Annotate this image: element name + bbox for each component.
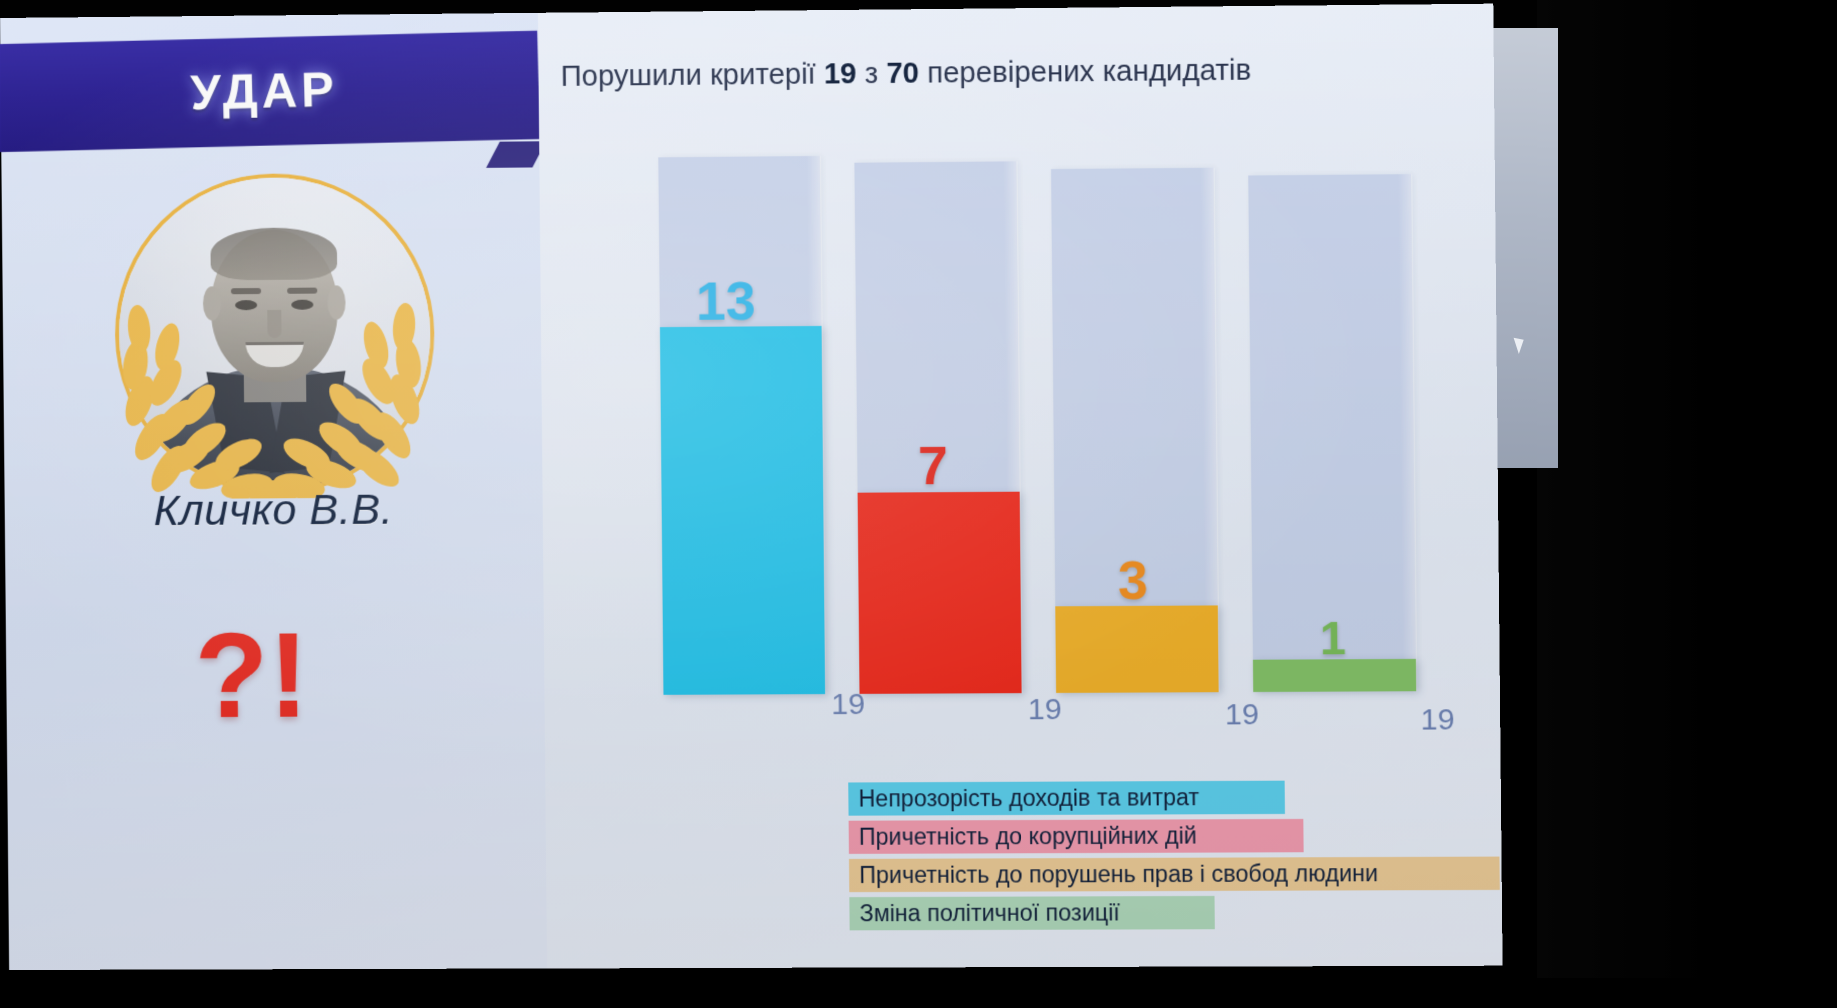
chart-title: Порушили критерії 19 з 70 перевірених ка…	[561, 52, 1479, 94]
candidate-portrait	[79, 166, 464, 499]
bar-group-2[interactable]: 19 3	[1056, 692, 1219, 693]
legend-item-0[interactable]: Непрозорість доходів та витрат	[848, 781, 1285, 816]
legend-item-3[interactable]: Зміна політичної позиції	[849, 896, 1215, 930]
verdict-mark: ?!	[6, 605, 499, 746]
bar-total-label-2: 19	[1225, 698, 1259, 732]
bar-value-0	[660, 326, 825, 695]
bar-group-0[interactable]: 19 13	[663, 694, 825, 695]
portrait-lighting-overlay	[118, 176, 432, 491]
bar-value-label-2: 3	[1118, 550, 1149, 612]
candidate-panel: УДАР	[0, 13, 547, 970]
portrait-circle	[114, 172, 436, 495]
chart-title-total: 70	[886, 57, 919, 90]
chart-title-pre: Порушили критерії	[561, 58, 825, 93]
bar-group-1[interactable]: 19 7	[860, 693, 1022, 694]
bar-total-label-3: 19	[1420, 703, 1454, 738]
bar-chart: 19 13 19 7 19 3	[539, 105, 1500, 696]
slide-canvas: УДАР	[0, 4, 1503, 970]
legend-label-0: Непрозорість доходів та витрат	[858, 784, 1199, 813]
bar-value-label-3: 1	[1320, 611, 1347, 666]
bar-total-label-1: 19	[1028, 693, 1062, 727]
party-banner: УДАР	[0, 31, 540, 153]
legend-item-1[interactable]: Причетність до корупційних дій	[849, 819, 1304, 854]
banner-fold-decoration	[486, 141, 546, 168]
bar-value-1	[858, 492, 1022, 694]
party-banner-label: УДАР	[190, 62, 339, 122]
chart-title-post: перевірених кандидатів	[919, 54, 1251, 89]
legend-label-2: Причетність до порушень прав і свобод лю…	[859, 860, 1378, 889]
legend-label-3: Зміна політичної позиції	[859, 899, 1119, 927]
legend-item-2[interactable]: Причетність до порушень прав і свобод лю…	[849, 857, 1500, 893]
chart-title-mid: з	[856, 58, 886, 90]
candidate-name: Кличко В.В.	[5, 485, 543, 537]
projected-slide-photo: УДАР	[0, 0, 1837, 1008]
legend-label-1: Причетність до корупційних дій	[859, 822, 1197, 850]
bar-group-3[interactable]: 19 1	[1253, 691, 1416, 692]
dark-surround-bottom	[0, 978, 1837, 1008]
dark-surround-right	[1537, 0, 1837, 1008]
bar-value-2	[1055, 605, 1218, 693]
chart-title-violations: 19	[824, 58, 857, 90]
chart-legend: Непрозорість доходів та витрат Причетніс…	[848, 780, 1500, 936]
chart-panel: Порушили критерії 19 з 70 перевірених ка…	[538, 4, 1503, 969]
bar-value-label-1: 7	[918, 436, 948, 498]
bar-value-label-0: 13	[696, 271, 756, 333]
